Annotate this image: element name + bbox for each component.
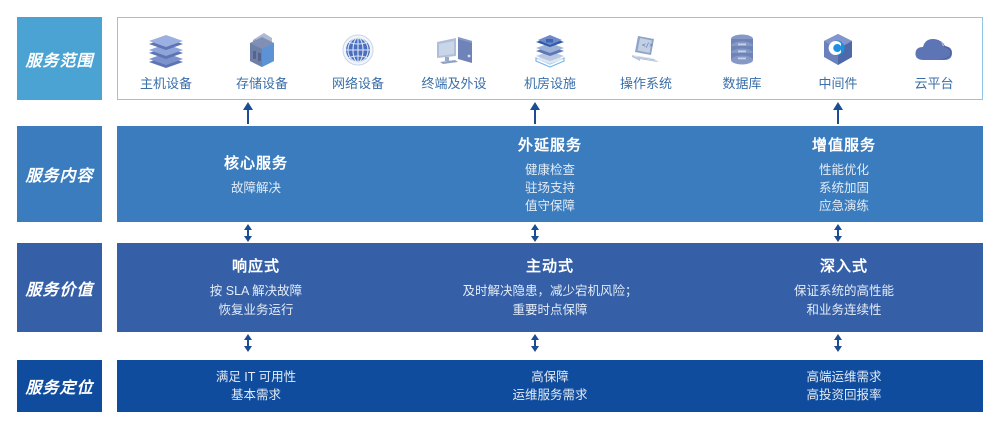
cell-title: 主动式: [526, 255, 574, 276]
position-cell-high-end[interactable]: 高端运维需求 高投资回报率: [705, 360, 983, 412]
cell-line: 高投资回报率: [806, 386, 881, 404]
cell-lines: 高保障 运维服务需求: [512, 368, 587, 404]
connector-value-position-2: [528, 334, 542, 352]
globe-network-icon: [335, 30, 381, 70]
cell-title: 增值服务: [812, 134, 876, 155]
value-cell-proactive[interactable]: 主动式 及时解决隐患，减少宕机风险； 重要时点保障: [395, 243, 705, 332]
scope-item-middleware[interactable]: 中间件: [790, 18, 886, 99]
cell-line: 重要时点保障: [462, 301, 637, 320]
database-icon: [719, 30, 765, 70]
cell-line: 健康检查: [525, 161, 575, 179]
cell-line: 系统加固: [819, 179, 869, 197]
service-content-cells: 核心服务 故障解决 外延服务 健康检查 驻场支持 值守保障 增值服务 性能优化 …: [117, 126, 983, 222]
value-cell-in-depth[interactable]: 深入式 保证系统的高性能 和业务连续性: [705, 243, 983, 332]
connector-content-value-3: [831, 224, 845, 242]
content-cell-value-added-service[interactable]: 增值服务 性能优化 系统加固 应急演练: [705, 126, 983, 222]
scope-item-label: 数据库: [722, 73, 761, 92]
content-cell-extended-service[interactable]: 外延服务 健康检查 驻场支持 值守保障: [395, 126, 705, 222]
connector-content-value-1: [241, 224, 255, 242]
laptop-code-icon: </>: [623, 30, 669, 70]
row-label-text: 服务内容: [25, 162, 93, 186]
row-label-service-scope: 服务范围: [17, 17, 102, 100]
row-service-position: 服务定位 满足 IT 可用性 基本需求 高保障 运维服务需求 高端运维需求 高投…: [0, 360, 1000, 412]
connector-content-value-2: [528, 224, 542, 242]
cell-lines: 及时解决隐患，减少宕机风险； 重要时点保障: [462, 282, 637, 320]
scope-item-terminal-peripheral[interactable]: 终端及外设: [406, 18, 502, 99]
cell-line: 故障解决: [231, 179, 281, 197]
cell-line: 运维服务需求: [512, 386, 587, 404]
cell-line: 基本需求: [216, 386, 296, 404]
cell-lines: 按 SLA 解决故障 恢复业务运行: [210, 282, 302, 320]
cloud-icon: [911, 30, 957, 70]
service-position-cells: 满足 IT 可用性 基本需求 高保障 运维服务需求 高端运维需求 高投资回报率: [117, 360, 983, 412]
data-center-icon: [527, 30, 573, 70]
cell-lines: 高端运维需求 高投资回报率: [806, 368, 881, 404]
storage-array-icon: [239, 30, 285, 70]
cell-line: 高保障: [512, 368, 587, 386]
cell-line: 恢复业务运行: [210, 301, 302, 320]
cell-line: 驻场支持: [525, 179, 575, 197]
scope-item-storage-equipment[interactable]: 存储设备: [214, 18, 310, 99]
row-service-content: 服务内容 核心服务 故障解决 外延服务 健康检查 驻场支持 值守保障 增值服务: [0, 126, 1000, 222]
cell-line: 满足 IT 可用性: [216, 368, 296, 386]
service-scope-items: 主机设备 存: [117, 17, 983, 100]
scope-item-host-equipment[interactable]: 主机设备: [118, 18, 214, 99]
scope-item-label: 云平台: [914, 73, 953, 92]
cell-lines: 性能优化 系统加固 应急演练: [819, 161, 869, 215]
server-stack-icon: [143, 30, 189, 70]
row-label-text: 服务定位: [25, 374, 93, 398]
content-cell-core-service[interactable]: 核心服务 故障解决: [117, 126, 395, 222]
cell-line: 性能优化: [819, 161, 869, 179]
scope-item-cloud-platform[interactable]: 云平台: [886, 18, 982, 99]
cell-lines: 满足 IT 可用性 基本需求: [216, 368, 296, 404]
row-service-value: 服务价值 响应式 按 SLA 解决故障 恢复业务运行 主动式 及时解决隐患，减少…: [0, 243, 1000, 332]
row-service-scope: 服务范围 主机设备: [0, 17, 1000, 100]
desktop-terminal-icon: [431, 30, 477, 70]
cell-line: 按 SLA 解决故障: [210, 282, 302, 301]
position-cell-basic[interactable]: 满足 IT 可用性 基本需求: [117, 360, 395, 412]
cell-line: 值守保障: [525, 197, 575, 215]
row-label-service-position: 服务定位: [17, 360, 102, 412]
scope-item-operating-system[interactable]: </> 操作系统: [598, 18, 694, 99]
cell-line: 应急演练: [819, 197, 869, 215]
cell-title: 核心服务: [224, 152, 288, 173]
cell-line: 高端运维需求: [806, 368, 881, 386]
scope-item-label: 操作系统: [620, 73, 672, 92]
scope-item-label: 中间件: [818, 73, 857, 92]
row-label-text: 服务价值: [25, 276, 93, 300]
scope-item-label: 终端及外设: [421, 73, 486, 92]
cell-lines: 保证系统的高性能 和业务连续性: [794, 282, 894, 320]
scope-item-label: 主机设备: [140, 73, 192, 92]
cell-title: 外延服务: [518, 134, 582, 155]
connector-value-position-3: [831, 334, 845, 352]
position-cell-high-assurance[interactable]: 高保障 运维服务需求: [395, 360, 705, 412]
row-label-text: 服务范围: [25, 47, 93, 71]
cell-lines: 健康检查 驻场支持 值守保障: [525, 161, 575, 215]
service-value-cells: 响应式 按 SLA 解决故障 恢复业务运行 主动式 及时解决隐患，减少宕机风险；…: [117, 243, 983, 332]
cell-line: 保证系统的高性能: [794, 282, 894, 301]
row-label-service-value: 服务价值: [17, 243, 102, 332]
scope-item-database[interactable]: 数据库: [694, 18, 790, 99]
scope-item-label: 存储设备: [236, 73, 288, 92]
connector-scope-content-1: [241, 102, 255, 124]
cell-title: 响应式: [232, 255, 280, 276]
connector-scope-content-2: [528, 102, 542, 124]
connector-value-position-1: [241, 334, 255, 352]
cube-middleware-icon: [815, 30, 861, 70]
scope-item-label: 网络设备: [332, 73, 384, 92]
connector-scope-content-3: [831, 102, 845, 124]
svg-text:</>: </>: [642, 42, 653, 49]
value-cell-responsive[interactable]: 响应式 按 SLA 解决故障 恢复业务运行: [117, 243, 395, 332]
scope-item-network-equipment[interactable]: 网络设备: [310, 18, 406, 99]
cell-title: 深入式: [820, 255, 868, 276]
scope-item-label: 机房设施: [524, 73, 576, 92]
row-label-service-content: 服务内容: [17, 126, 102, 222]
scope-item-data-center-facility[interactable]: 机房设施: [502, 18, 598, 99]
cell-lines: 故障解决: [231, 179, 281, 197]
service-framework-diagram: 服务范围 主机设备: [0, 0, 1000, 424]
cell-line: 及时解决隐患，减少宕机风险；: [462, 282, 637, 301]
cell-line: 和业务连续性: [794, 301, 894, 320]
